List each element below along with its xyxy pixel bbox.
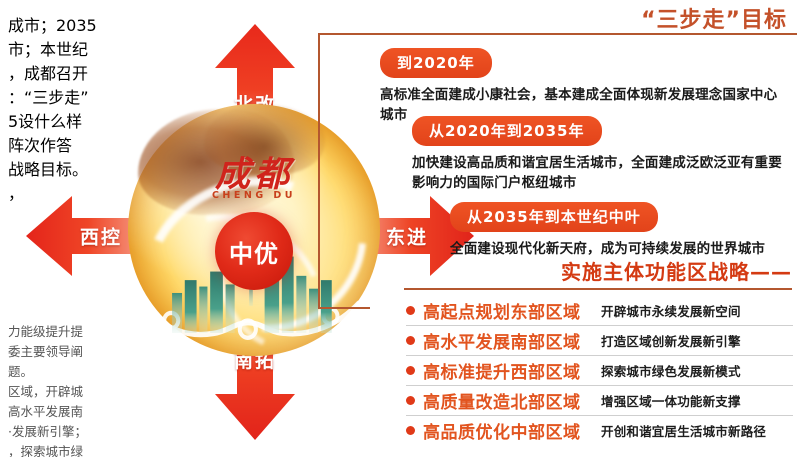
left-text-line: 战略目标。 [8, 156, 104, 180]
left-text-line: 题。 [8, 362, 108, 382]
bullet-icon [406, 426, 415, 435]
left-text-line: 力能级提升提 [8, 322, 108, 342]
list-item-title: 高水平发展南部区域 [423, 328, 601, 353]
milestone-badge: 从2020年到2035年 [412, 116, 602, 146]
milestone-step-1: 到2020年 高标准全面建成小康社会，基本建成全面体现新发展理念国家中心城市 [380, 48, 790, 125]
left-text-line: ，探索城市绿 [8, 442, 108, 457]
list-item: 高水平发展南部区域 打造区域创新发展新引擎 [406, 326, 793, 356]
list-item: 高标准提升西部区域 探索城市绿色发展新模式 [406, 356, 793, 386]
left-text-line: 区域，开辟城 [8, 382, 108, 402]
left-text-line: 成市；2035 [8, 12, 104, 36]
connector-line-vertical [318, 34, 320, 309]
left-text-line: 高水平发展南 [8, 402, 108, 422]
milestone-step-2: 从2020年到2035年 加快建设高品质和谐宜居生活城市，全面建成泛欧泛亚有重要… [412, 116, 792, 193]
bullet-icon [406, 336, 415, 345]
chengdu-globe: 成都 CHENG DU 中优 [128, 104, 380, 356]
left-text-line: 阵次作答 [8, 132, 104, 156]
list-item-title: 高品质优化中部区域 [423, 418, 601, 443]
section-divider [404, 288, 792, 290]
left-text-line: ，成都召开 [8, 60, 104, 84]
milestone-body: 加快建设高品质和谐宜居生活城市，全面建成泛欧泛亚有重要影响力的国际门户枢纽城市 [412, 153, 792, 193]
connector-line-foot [318, 307, 370, 309]
functional-zone-list: 高起点规划东部区域 开辟城市永续发展新空间 高水平发展南部区域 打造区域创新发展… [406, 296, 793, 445]
globe-brand-subtitle: CHENG DU [128, 190, 380, 201]
center-optimize-label: 中优 [229, 234, 279, 269]
list-item-desc: 开创和谐宜居生活城市新路径 [601, 421, 766, 440]
left-text-line: 委主要领导阐 [8, 342, 108, 362]
list-item-desc: 打造区域创新发展新引擎 [601, 331, 741, 350]
list-item-desc: 探索城市绿色发展新模式 [601, 361, 741, 380]
list-item-title: 高标准提升西部区域 [423, 358, 601, 383]
center-optimize-badge: 中优 [215, 212, 293, 290]
left-text-block-2: 5设什么样 阵次作答 战略目标。 ， [8, 108, 104, 204]
bullet-icon [406, 306, 415, 315]
list-item-title: 高起点规划东部区域 [423, 298, 601, 323]
left-text-column-top: 成市；2035 市；本世纪 ，成都召开 ：“三步走” 5设什么样 阵次作答 战略… [8, 12, 104, 204]
arrow-west-label: 西控 [80, 223, 122, 250]
milestone-step-3: 从2035年到本世纪中叶 全面建设现代化新天府，成为可持续发展的世界城市 [450, 202, 790, 259]
left-text-line: ·发展新引擎； [8, 422, 108, 442]
left-text-line: 5设什么样 [8, 108, 104, 132]
milestone-badge: 到2020年 [380, 48, 492, 78]
list-item-desc: 开辟城市永续发展新空间 [601, 301, 741, 320]
bullet-icon [406, 396, 415, 405]
arrow-east-label: 东进 [386, 223, 428, 250]
list-item-title: 高质量改造北部区域 [423, 388, 601, 413]
left-text-line: 市；本世纪 [8, 36, 104, 60]
list-item-desc: 增强区域一体功能新支撑 [601, 391, 741, 410]
page-title: “三步走”目标 [641, 2, 787, 34]
list-item: 高起点规划东部区域 开辟城市永续发展新空间 [406, 296, 793, 326]
left-text-line: ：“三步走” [8, 84, 104, 108]
left-text-block-1: 成市；2035 市；本世纪 ，成都召开 ：“三步走” [8, 12, 104, 108]
left-text-column-bottom: 力能级提升提 委主要领导阐 题。 区域，开辟城 高水平发展南 ·发展新引擎； ，… [8, 322, 108, 457]
header-divider [318, 33, 797, 35]
milestone-badge: 从2035年到本世纪中叶 [450, 202, 658, 232]
list-item: 高质量改造北部区域 增强区域一体功能新支撑 [406, 386, 793, 416]
list-item: 高品质优化中部区域 开创和谐宜居生活城市新路径 [406, 416, 793, 445]
section-title: 实施主体功能区战略—— [400, 256, 792, 285]
bullet-icon [406, 366, 415, 375]
infographic-page: 成市；2035 市；本世纪 ，成都召开 ：“三步走” 5设什么样 阵次作答 战略… [0, 0, 797, 457]
